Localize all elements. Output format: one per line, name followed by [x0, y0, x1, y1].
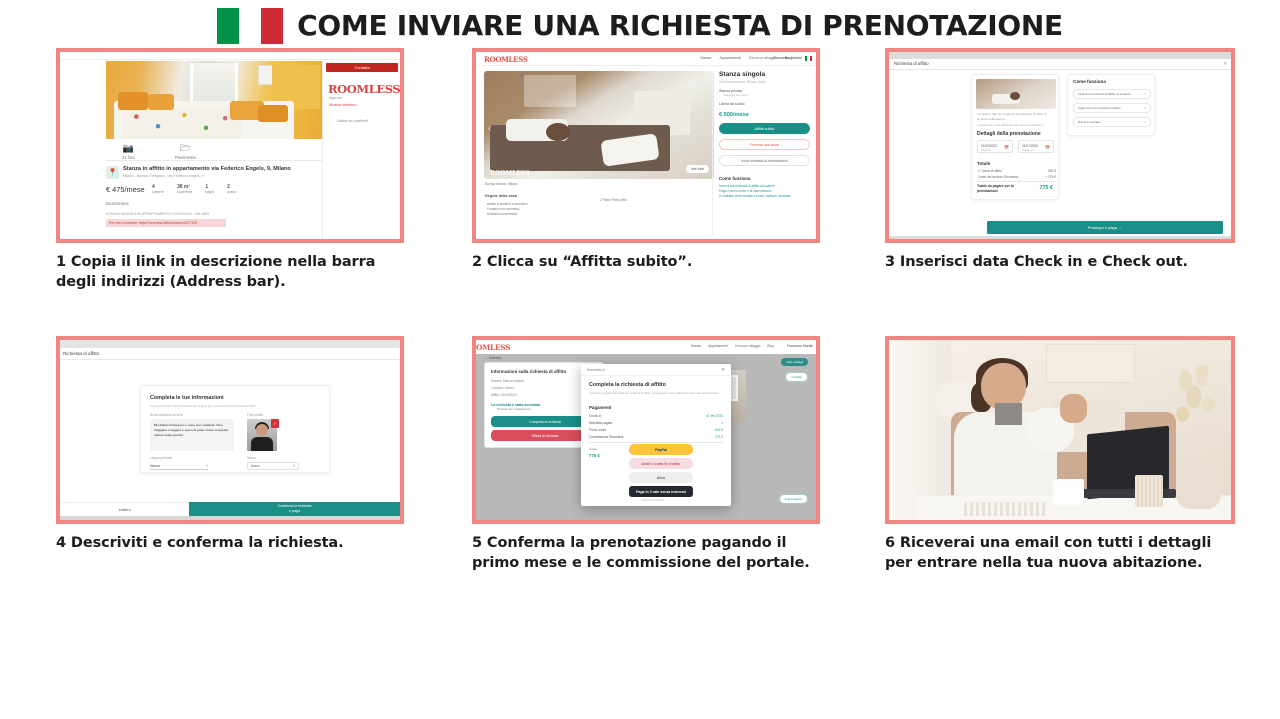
gallery-prev-icon[interactable]: ‹ [488, 123, 491, 134]
nav-item-blog[interactable]: Blog [767, 344, 774, 348]
taskbar [60, 516, 400, 520]
page-title: COME INVIARE UNA RICHIESTA DI PRENOTAZIO… [297, 12, 1063, 40]
pay-later-button[interactable]: Paga in 3 rate senza interessi [629, 486, 693, 497]
language-select[interactable]: Italiano ˅ [150, 462, 208, 470]
step-card-6: 6 Riceverai una email con tutti i dettag… [885, 336, 1235, 573]
feature-private-room: Stanza privata Camera con letto [719, 89, 810, 97]
checkout-date-field[interactable]: 31/07/2023 Check out 📅 [1018, 140, 1054, 153]
how-it-works-list: Invia la tua richiesta di affitto al loc… [719, 184, 810, 199]
modal-heading: Completa la richiesta di affitto [589, 382, 666, 388]
step-2-caption: 2 Clicca su “Affitta subito”. [472, 253, 820, 273]
woman-with-laptop-photo [889, 340, 1231, 520]
language-flag-icon[interactable] [805, 56, 812, 61]
step-card-1: Contatta ROOMLESS Agenzia Mostra telefon… [56, 48, 404, 292]
show-phone-link[interactable]: Mostra telefono [329, 102, 357, 107]
photo-label: Foto profilo [247, 413, 263, 417]
modal-titlebar [889, 59, 1231, 70]
roomless-logo[interactable]: OMLESS [476, 343, 510, 352]
side-button-details[interactable]: Vedi i dettagli [781, 358, 808, 366]
save-favourite-button[interactable]: Salva nei preferiti [337, 118, 368, 123]
location-pin-icon: 📍 [106, 166, 119, 179]
how-option-3[interactable]: Ricevi il contratto ˅ [1073, 117, 1151, 127]
gallery-icons: 📷 21 foto 🗁 Planimetria [122, 144, 196, 160]
modal-subtext: Completa il pagamento della tua richiest… [589, 391, 723, 395]
listing-sidebar: Contatta ROOMLESS Agenzia Mostra telefon… [322, 60, 400, 239]
step-4-caption: 4 Descriviti e conferma la richiesta. [56, 534, 404, 554]
floorplan-button[interactable]: 🗁 Planimetria [175, 144, 196, 160]
italian-flag-icon [217, 8, 283, 44]
camera-icon: 📷 [123, 144, 134, 153]
chevron-down-icon: ˅ [1144, 120, 1146, 124]
step-6-caption: 6 Riceverai una email con tutti i dettag… [885, 534, 1235, 573]
how-it-works-heading: Come funziona [1073, 79, 1106, 84]
summary-text: Completa i dati per inviare la tua richi… [977, 112, 1057, 121]
card-button[interactable]: Debit o carta di credito [629, 458, 693, 469]
browser-chrome [60, 52, 400, 60]
total-label: Totale da pagare per la prenotazione [977, 184, 1029, 194]
payments-heading: Pagamenti [589, 405, 611, 410]
nav-item-appartamenti[interactable]: Appartamenti [708, 344, 728, 348]
total-line-item: 1° mese di affitto 500 € [978, 169, 1056, 173]
listing-address: Stanza in affitto in appartamento via Fe… [123, 166, 291, 172]
how-item: Il contratto viene firmato e ricevi i da… [719, 194, 810, 199]
form-footer: Indietro Conferma la richiesta e paga [60, 502, 400, 516]
form-subtext: Completa le informazioni richieste dal l… [150, 404, 322, 408]
site-navbar: ROOMLESS Stanze Appartamenti Cerca un al… [476, 52, 816, 66]
roomless-logo[interactable]: ROOMLESS [484, 55, 528, 64]
spec-item: 2piano [227, 184, 236, 194]
nav-item-appartamenti[interactable]: Appartamenti [719, 56, 740, 60]
browser-chrome [60, 340, 400, 348]
description-heading: Descrizione [106, 201, 129, 206]
modal-title: Richiesta di affitto [894, 61, 929, 66]
divider [106, 160, 322, 161]
step-1-caption: 1 Copia il link in descrizione nella bar… [56, 253, 404, 292]
payment-row: Mensilità pagate 1 [589, 421, 723, 425]
chevron-down-icon: ˅ [293, 464, 295, 468]
modal-domain: Roomless.it [587, 368, 605, 372]
listing-page-screenshot: Contatta ROOMLESS Agenzia Mostra telefon… [60, 52, 400, 239]
folder-icon: 🗁 [180, 144, 191, 153]
accepted-status: La richiesta è stata accettata Procedi c… [491, 403, 540, 411]
spec-item: 1bagni [205, 184, 214, 194]
step-6-screenshot-frame[interactable] [885, 336, 1235, 524]
other-payment-button[interactable]: Altro [629, 472, 693, 483]
bio-label: Scrivi qualcosa su di te [150, 413, 183, 417]
listing-hero-photo [106, 61, 322, 139]
spec-item: 38 m²superficie [177, 184, 192, 194]
nav-item-stanze[interactable]: Stanze [700, 56, 711, 60]
how-it-works-heading: Come funziona [719, 176, 810, 181]
bio-text: Mi chiamo Francesco e sono uno studente.… [154, 423, 230, 437]
confirm-request-button[interactable]: Conferma la richiesta e paga [189, 502, 400, 516]
step-2-screenshot-frame[interactable]: ROOMLESS Stanze Appartamenti Cerca un al… [472, 48, 820, 243]
gender-label: Sesso [247, 456, 256, 460]
paypal-button[interactable]: PayPal [629, 444, 693, 455]
checkin-date-field[interactable]: 01/02/2023 Check in 📅 [977, 140, 1013, 153]
nav-item-stanze[interactable]: Stanze [691, 344, 701, 348]
steps-row-1: Contatta ROOMLESS Agenzia Mostra telefon… [0, 48, 1280, 336]
user-menu[interactable]: Francesco Martini [787, 344, 813, 348]
request-step: Affitto: 01/02/2023 [491, 393, 517, 397]
step-card-5: OMLESS Stanze Appartamenti Cerca un allo… [472, 336, 820, 573]
site-navbar: OMLESS Stanze Appartamenti Cerca un allo… [476, 340, 816, 354]
close-icon[interactable]: ✕ [721, 367, 725, 373]
side-button-view-room[interactable]: Vedi la stanza [779, 494, 808, 504]
summary-note: Il pagamento verrà effettuato solo dopo … [977, 123, 1043, 127]
highlighted-link[interactable]: Per info e richieste: https://roomless.i… [106, 219, 226, 227]
step-4-screenshot-frame[interactable]: Richiesta di affitto Completa le tue inf… [56, 336, 404, 524]
gender-select[interactable]: Uomo ˅ [247, 462, 299, 470]
back-button[interactable]: Indietro [60, 502, 189, 516]
modal-total-value: 775 € [589, 453, 600, 458]
payment-modal-screenshot: OMLESS Stanze Appartamenti Cerca un allo… [476, 340, 816, 520]
room-subtitle: Via Bovisa Nuova, Milano, Italia [719, 80, 810, 84]
photos-count-button[interactable]: 📷 21 foto [122, 144, 135, 160]
spec-item: 4camere [152, 184, 164, 194]
browser-chrome [889, 52, 1231, 59]
house-rules-list: Adatto a studenti e lavoratori Fumatori … [487, 202, 528, 217]
room-thumbnail [976, 79, 1056, 109]
profile-form-screenshot: Richiesta di affitto Completa le tue inf… [60, 340, 400, 520]
booking-summary-card: Completa i dati per inviare la tua richi… [971, 74, 1059, 200]
steps-grid: Contatta ROOMLESS Agenzia Mostra telefon… [0, 48, 1280, 336]
side-button-contact[interactable]: Contatta [785, 372, 808, 382]
chevron-down-icon: ˅ [1144, 92, 1146, 96]
step-card-2: ROOMLESS Stanze Appartamenti Cerca un al… [472, 48, 820, 273]
step-3-caption: 3 Inserisci data Check in e Check out. [885, 253, 1235, 273]
calendar-icon: 📅 [1045, 145, 1050, 150]
modal-total-label: Totale [589, 447, 597, 451]
profile-card: Completa le tue informazioni Completa le… [140, 385, 330, 473]
rule-item: Animali non ammessi [487, 212, 528, 217]
booking-panel: Stanza singola Via Bovisa Nuova, Milano,… [712, 71, 810, 235]
watermark: ROOMLESS [490, 170, 529, 177]
payment-row: Commissione Roomless 275 € [589, 435, 723, 439]
modal-body: Completa i dati per inviare la tua richi… [889, 70, 1231, 239]
bio-textarea[interactable]: Mi chiamo Francesco e sono uno studente.… [150, 419, 234, 451]
close-icon[interactable]: ✕ [1223, 61, 1227, 67]
powered-by-paypal: Powered by PayPal [641, 499, 664, 502]
description-text: STANZA SINGOLA IN APPARTAMENTO CONDIVISO… [106, 212, 209, 216]
agency-label: Agenzia [329, 96, 342, 100]
how-it-works-card: Come funziona Invia la tua richiesta di … [1067, 74, 1155, 136]
total-value: 775 € [1040, 185, 1054, 191]
listing-address-sub: Milano - Bovisa / Dergano - Via Federico… [123, 174, 204, 178]
richiesta-info-button[interactable]: Invia richiesta di informazioni [719, 155, 810, 166]
floor-info: 2 Piano Primo letto [600, 198, 627, 203]
payment-row: Check in 01 feb 2023 [589, 414, 723, 418]
divider [589, 442, 723, 443]
affitta-subito-button[interactable]: Affitta subito [719, 123, 810, 134]
chevron-down-icon: ˅ [1144, 106, 1146, 110]
feature-availability: Libera da subito [719, 102, 810, 106]
request-step: Stanza: Stanza singola [491, 379, 524, 383]
chevron-down-icon: ˅ [206, 464, 208, 468]
step-card-4: Richiesta di affitto Completa le tue inf… [56, 336, 404, 554]
step-1-screenshot-frame[interactable]: Contatta ROOMLESS Agenzia Mostra telefon… [56, 48, 404, 243]
payment-modal: Roomless.it ✕ Completa la richiesta di a… [581, 364, 731, 506]
step-5-caption: 5 Conferma la prenotazione pagando il pr… [472, 534, 820, 573]
how-option-1[interactable]: Invia la tua richiesta di affitto al loc… [1073, 89, 1151, 99]
listing-specs: 4camere 38 m²superficie 1bagni 2piano [152, 184, 236, 194]
nav-links[interactable]: Stanze Appartamenti Cerca un alloggio Bl… [691, 344, 774, 348]
panel-heading: Informazioni sulla richiesta di affitto [491, 369, 566, 374]
form-heading: Completa le tue informazioni [150, 395, 224, 401]
house-rules-heading: Regole della casa [485, 194, 517, 198]
room-detail-screenshot: ROOMLESS Stanze Appartamenti Cerca un al… [476, 52, 816, 239]
poster-header: COME INVIARE UNA RICHIESTA DI PRENOTAZIO… [0, 6, 1280, 46]
contact-button[interactable]: Contatta [326, 63, 398, 72]
language-label: Lingua preferita [150, 456, 172, 460]
payment-row: Primo mese 500 € [589, 428, 723, 432]
poster-root: COME INVIARE UNA RICHIESTA DI PRENOTAZIO… [0, 0, 1280, 719]
room-photo[interactable]: ‹ ROOMLESS Vedi tutte [484, 71, 714, 179]
verified-icon: ✓ [271, 419, 279, 428]
request-step: Locatore: Marco [491, 386, 514, 390]
booking-request-screenshot: Richiesta di affitto ✕ Completa i dati p… [889, 52, 1231, 239]
listing-price: € 475/mese [106, 185, 145, 194]
taskbar [889, 236, 1231, 239]
total-line-item: Costo del servizio Roomless + 275 € [978, 175, 1056, 179]
room-price: € 500/mese [719, 112, 810, 118]
nav-item-cerca[interactable]: Cerca un alloggio [735, 344, 761, 348]
room-title: Stanza singola [719, 71, 810, 78]
modal-title: Richiesta di affitto [63, 351, 99, 356]
back-link[interactable]: ← Indietro [484, 356, 502, 360]
totals-heading: Totale [977, 161, 990, 166]
prosegui-e-paga-button[interactable]: Prosegui e paga → [987, 221, 1223, 234]
divider [977, 181, 1057, 182]
step-card-3: Richiesta di affitto ✕ Completa i dati p… [885, 48, 1235, 273]
modal-titlebar [60, 348, 400, 360]
view-all-photos-button[interactable]: Vedi tutte [686, 165, 709, 173]
roomless-logo: ROOMLESS [328, 82, 400, 96]
lifestyle-photo [889, 340, 1231, 520]
user-menu[interactable]: Francesco Martini [773, 56, 802, 60]
how-option-2[interactable]: Paga con il tuo metodo preferito ˅ [1073, 103, 1151, 113]
booking-details-heading: Dettagli della prenotazione [977, 131, 1041, 137]
step-3-screenshot-frame[interactable]: Richiesta di affitto ✕ Completa i dati p… [885, 48, 1235, 243]
photo-location-label: Bovisa Nuova, Milano [485, 182, 518, 186]
prenota-visita-button[interactable]: Prenota una visita [719, 139, 810, 150]
calendar-icon: 📅 [1004, 145, 1009, 150]
steps-row-2: Richiesta di affitto Completa le tue inf… [0, 336, 1280, 624]
step-5-screenshot-frame[interactable]: OMLESS Stanze Appartamenti Cerca un allo… [472, 336, 820, 524]
